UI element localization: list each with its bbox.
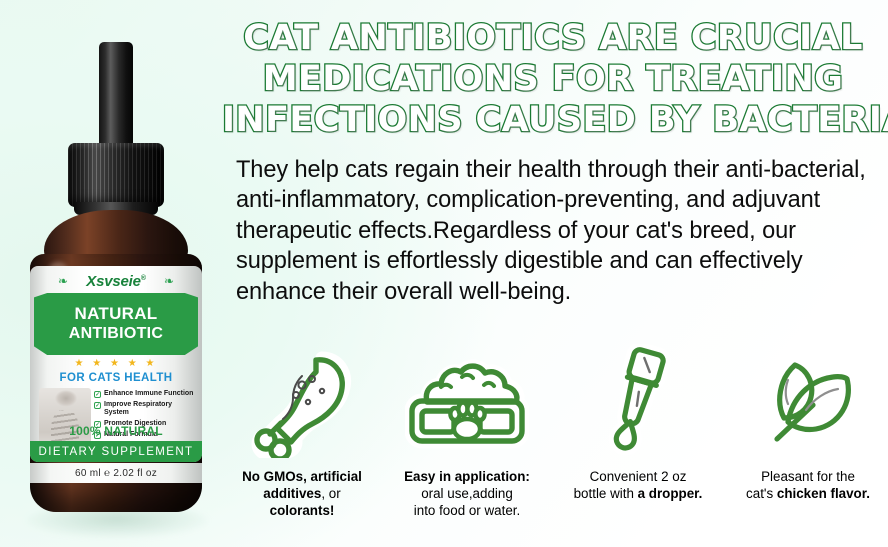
product-marketing-poster: CAT ANTIBIOTICS ARE CRUCIAL MEDICATIONS … [0, 0, 888, 547]
natural-claim: 100% NATURAL [30, 424, 202, 438]
bottle-cap [68, 143, 164, 207]
feature-item-dropper: Convenient 2 ozbottle with a dropper. [552, 338, 724, 538]
dietary-supplement-band: DIETARY SUPPLEMENT [30, 441, 202, 462]
feature-item-no-gmos: No GMOs, artificialadditives, orcolorant… [222, 338, 382, 538]
product-name-line-2: ANTIBIOTIC [69, 324, 164, 344]
brand-name-text: Xsvseie [86, 273, 140, 290]
dropper-icon [592, 338, 684, 466]
product-name-line-1: NATURAL [75, 304, 158, 324]
page-title: CAT ANTIBIOTICS ARE CRUCIAL MEDICATIONS … [222, 18, 884, 141]
brand-trademark: ® [141, 275, 146, 282]
drumstick-icon [250, 338, 354, 466]
benefit-label: Improve Respiratory System [104, 401, 196, 418]
headline-line-2: MEDICATIONS FOR TREATING [222, 59, 884, 100]
dietary-supplement-text: DIETARY SUPPLEMENT [39, 446, 194, 458]
check-icon: ✓ [94, 391, 101, 398]
list-item: ✓ Enhance Immune Function [94, 390, 196, 398]
product-label: ❧ ❧ Xsvseie® NATURAL ANTIBIOTIC ★ ★ ★ ★ … [30, 266, 202, 462]
feature-strip: No GMOs, artificialadditives, orcolorant… [222, 338, 888, 538]
feature-caption-easy-application: Easy in application:oral use,addinginto … [382, 468, 552, 519]
product-tagline: FOR CATS HEALTH [30, 372, 202, 384]
headline-line-1: CAT ANTIBIOTICS ARE CRUCIAL [222, 18, 884, 59]
list-item: ✓ Improve Respiratory System [94, 401, 196, 418]
product-name-banner: NATURAL ANTIBIOTIC [34, 293, 198, 355]
brand-name: Xsvseie® [30, 273, 202, 290]
feature-item-easy-application: Easy in application:oral use,addinginto … [382, 338, 552, 538]
feature-caption-no-gmos: No GMOs, artificialadditives, orcolorant… [222, 468, 382, 519]
check-icon: ✓ [94, 402, 101, 409]
pet-food-bowl-icon [405, 338, 529, 466]
product-bottle-image: ❧ ❧ Xsvseie® NATURAL ANTIBIOTIC ★ ★ ★ ★ … [8, 42, 222, 547]
leaves-icon [752, 338, 864, 466]
benefit-label: Enhance Immune Function [104, 390, 193, 398]
headline-line-3: INFECTIONS CAUSED BY BACTERIA [222, 100, 884, 141]
star-rating: ★ ★ ★ ★ ★ [30, 358, 202, 370]
dropper-stem [99, 42, 133, 150]
bottle-volume: 60 ml ℮ 2.02 fl oz [30, 463, 202, 483]
body-paragraph: They help cats regain their health throu… [236, 155, 884, 307]
feature-caption-chicken-flavor: Pleasant for thecat's chicken flavor. [724, 468, 888, 502]
feature-item-chicken-flavor: Pleasant for thecat's chicken flavor. [724, 338, 888, 538]
feature-caption-dropper: Convenient 2 ozbottle with a dropper. [552, 468, 724, 502]
